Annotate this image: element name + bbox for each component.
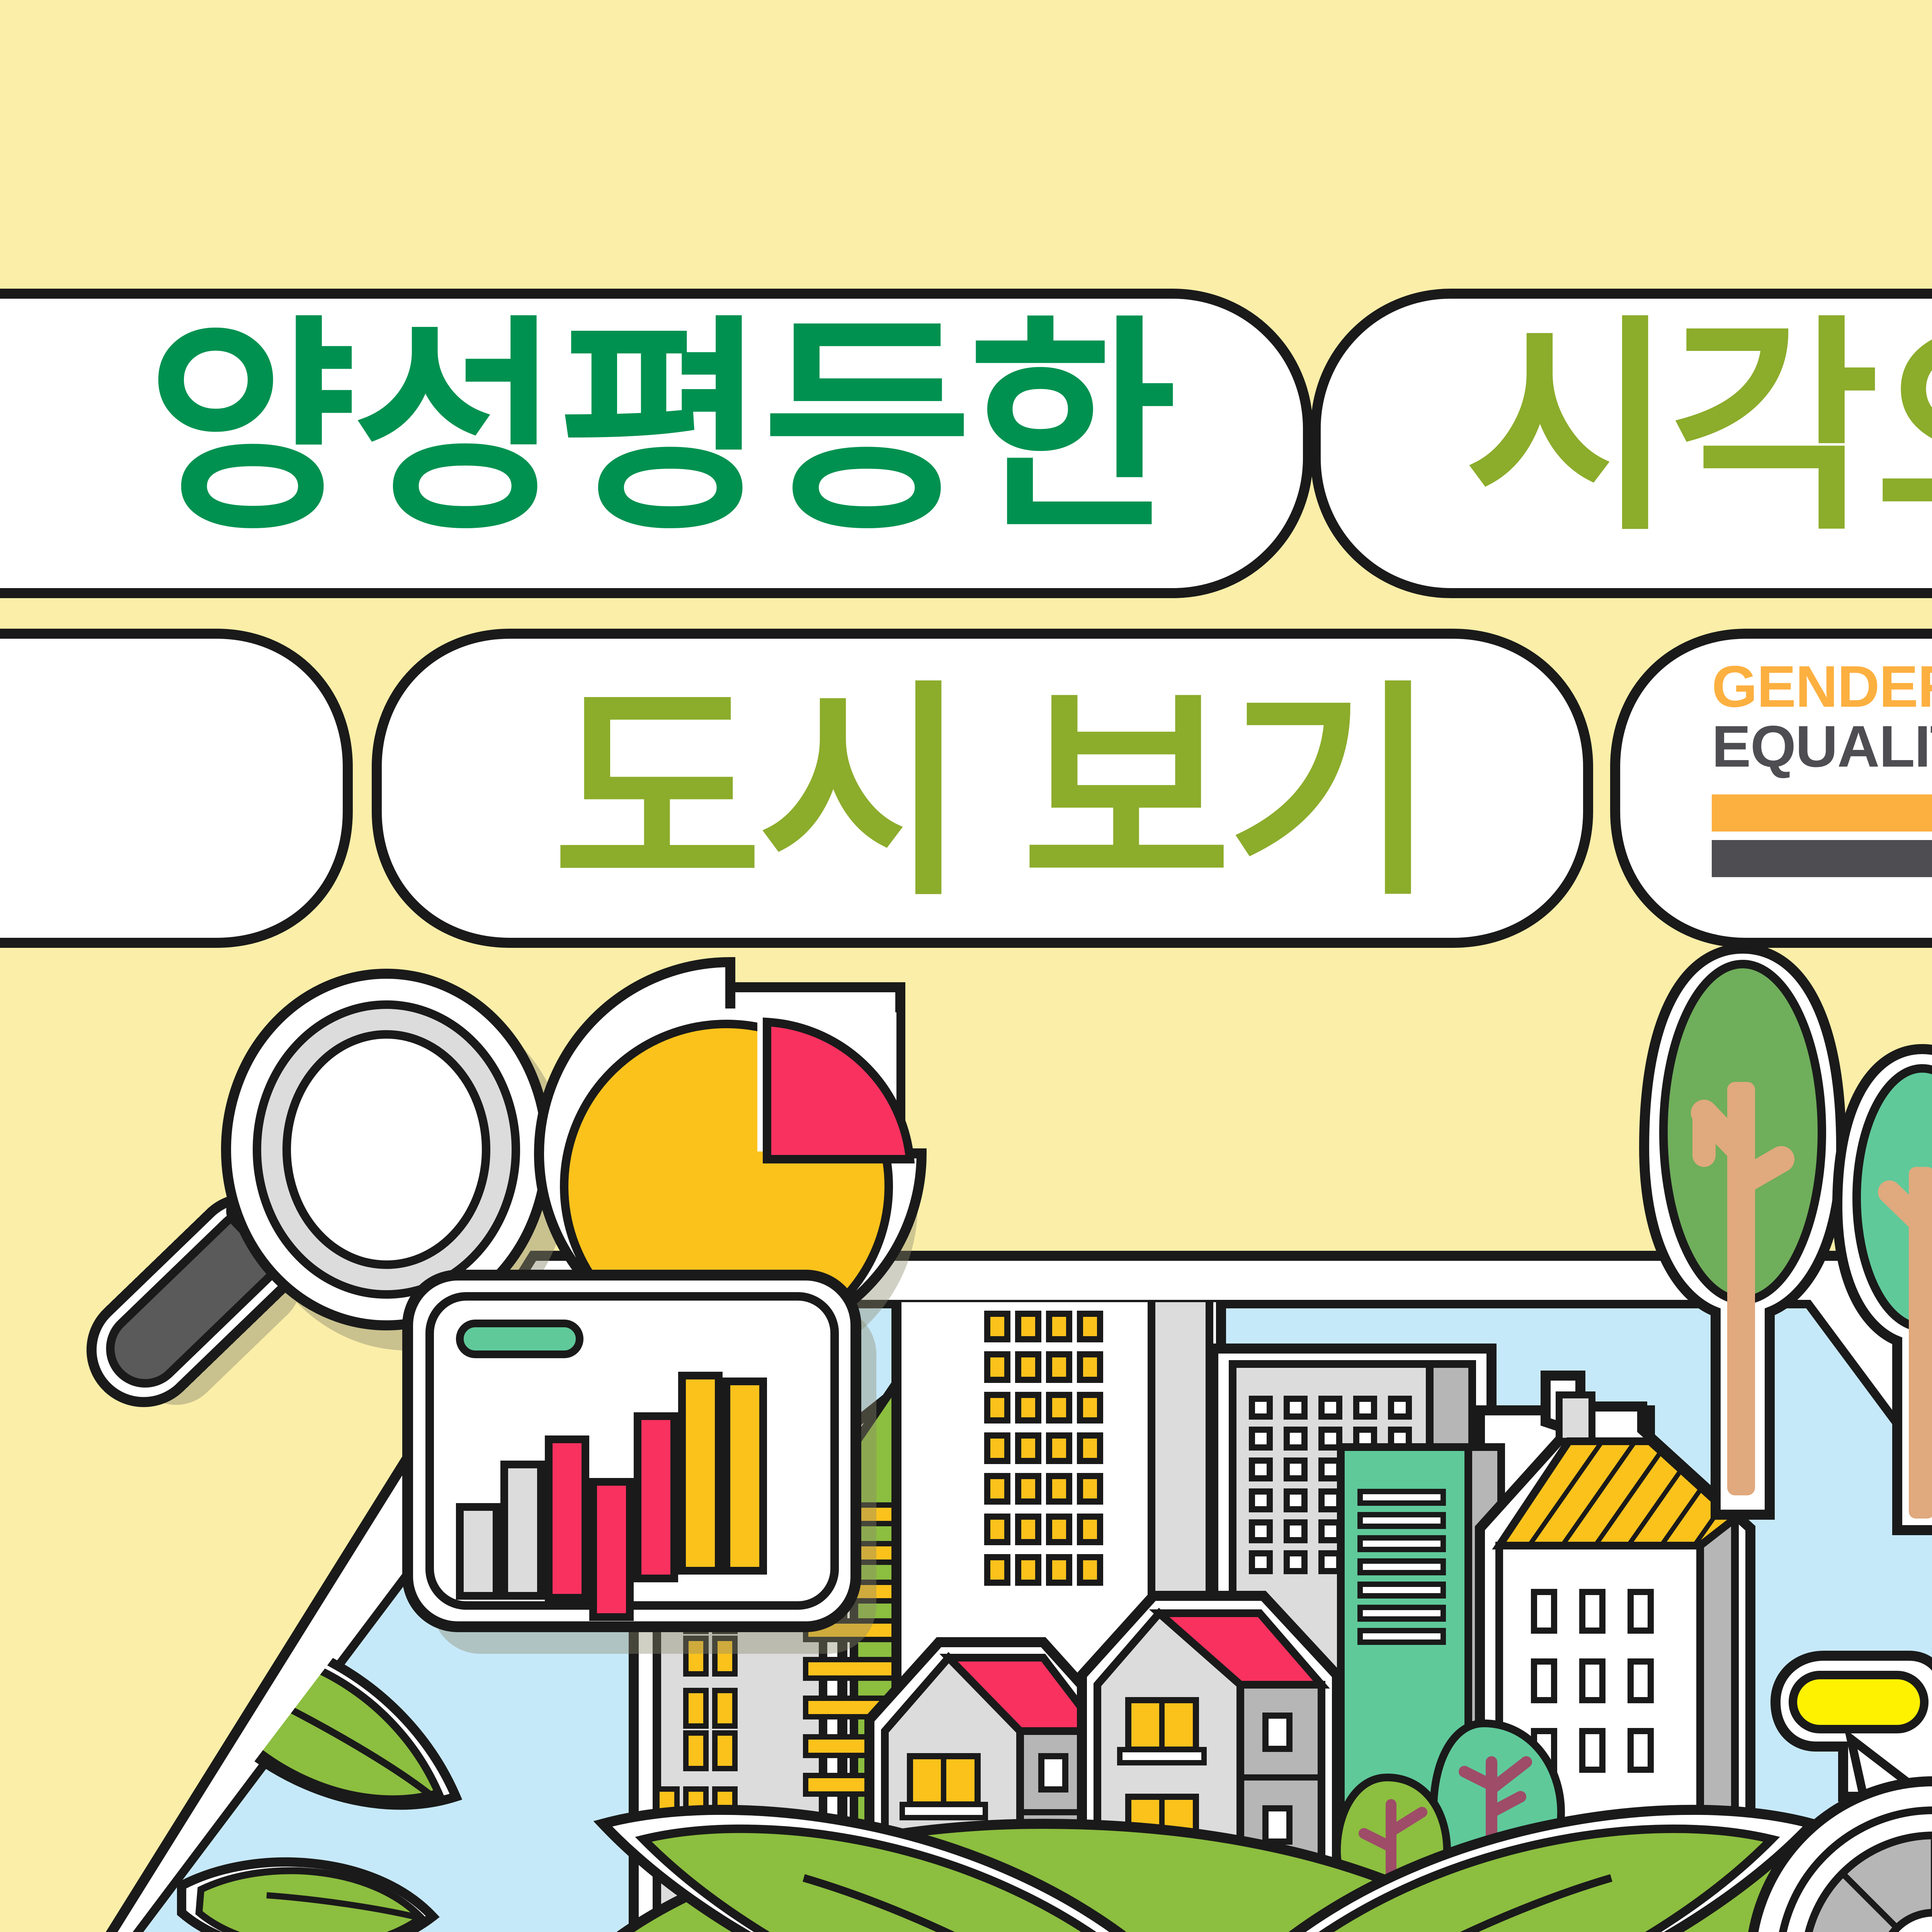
headline-bubble-2 — [1316, 294, 1932, 593]
headline-bubbles-layer — [0, 0, 1932, 1932]
headline-bubble-4 — [377, 634, 1588, 943]
poster-canvas: 양성평등한 시각으로 도시 보기 GENDER EQUALITY — [0, 0, 1932, 1932]
logo-line-equality: EQUALITY — [1712, 717, 1932, 777]
logo-line-gender: GENDER — [1712, 657, 1932, 717]
headline-bubble-1 — [0, 294, 1308, 593]
logo-bar-dark — [1712, 840, 1932, 877]
logo-bar-orange — [1712, 794, 1932, 832]
gender-equality-logo: GENDER EQUALITY — [1712, 657, 1932, 877]
headline-bubble-3 — [0, 634, 348, 943]
